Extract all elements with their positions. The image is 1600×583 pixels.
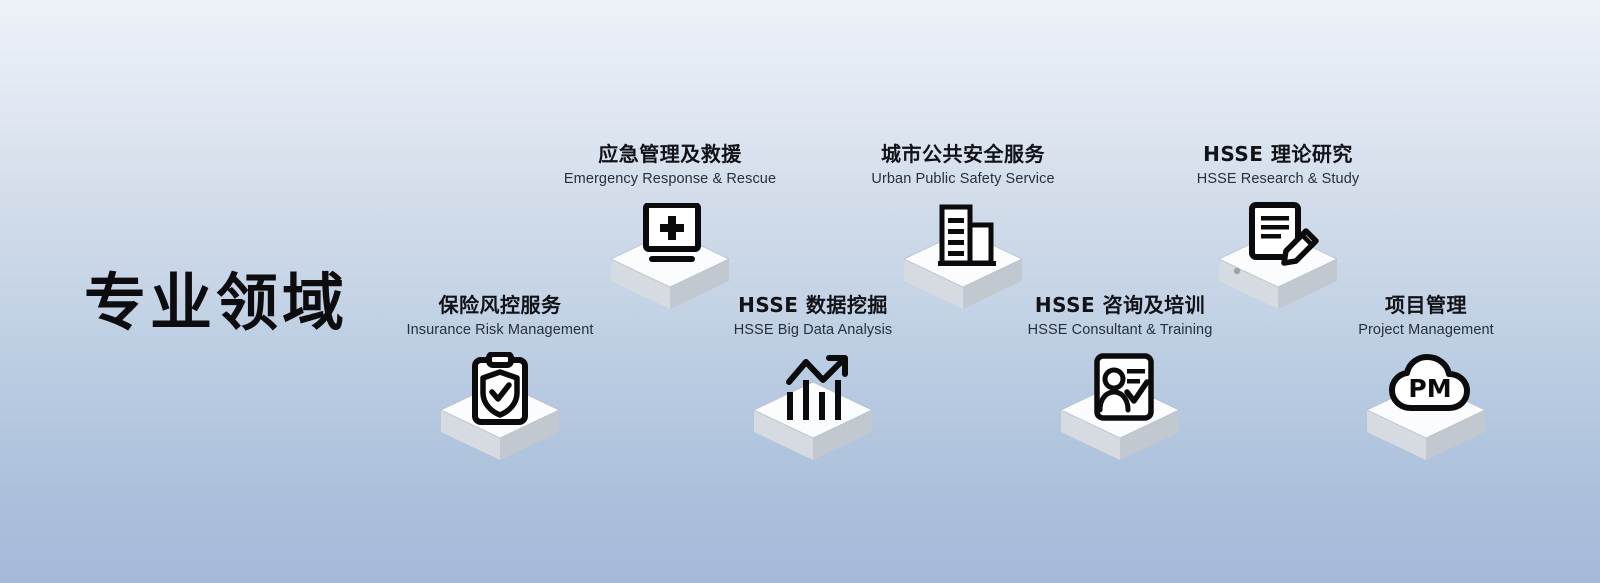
domain-title-en: Urban Public Safety Service <box>838 169 1088 189</box>
domain-title-en: Insurance Risk Management <box>375 320 625 340</box>
domain-item-titles: 应急管理及救援 Emergency Response & Rescue <box>545 142 795 189</box>
domain-title-en: HSSE Consultant & Training <box>995 320 1245 340</box>
domain-title-en: Project Management <box>1301 320 1551 340</box>
first-aid-monitor-icon <box>641 203 703 273</box>
domain-item-titles: 保险风控服务 Insurance Risk Management <box>375 293 625 340</box>
domain-figure: PM <box>1301 354 1551 464</box>
domain-item-titles: HSSE 咨询及培训 HSSE Consultant & Training <box>995 293 1245 340</box>
document-pencil-icon <box>1246 199 1322 273</box>
domain-item-hsse-big-data[interactable]: HSSE 数据挖掘 HSSE Big Data Analysis <box>688 293 938 464</box>
domain-title-en: Emergency Response & Rescue <box>545 169 795 189</box>
domain-title-cn: HSSE 咨询及培训 <box>995 293 1245 318</box>
domain-item-titles: HSSE 理论研究 HSSE Research & Study <box>1153 142 1403 189</box>
domain-figure <box>688 354 938 464</box>
domain-item-hsse-research[interactable]: HSSE 理论研究 HSSE Research & Study <box>1153 142 1403 313</box>
domain-item-titles: 项目管理 Project Management <box>1301 293 1551 340</box>
id-card-person-check-icon <box>1089 352 1159 424</box>
domain-figure <box>995 354 1245 464</box>
domain-title-cn: 应急管理及救援 <box>545 142 795 167</box>
domain-title-cn: HSSE 数据挖掘 <box>688 293 938 318</box>
domain-item-emergency-response[interactable]: 应急管理及救援 Emergency Response & Rescue <box>545 142 795 313</box>
domain-figure <box>375 354 625 464</box>
domain-item-insurance-risk[interactable]: 保险风控服务 Insurance Risk Management <box>375 293 625 464</box>
domain-item-hsse-consultant[interactable]: HSSE 咨询及培训 HSSE Consultant & Training <box>995 293 1245 464</box>
domain-title-cn: 项目管理 <box>1301 293 1551 318</box>
domain-item-project-management[interactable]: 项目管理 Project Management PM <box>1301 293 1551 464</box>
domain-title-cn: 城市公共安全服务 <box>838 142 1088 167</box>
domain-title-en: HSSE Research & Study <box>1153 169 1403 189</box>
cloud-pm-icon: PM <box>1388 354 1472 416</box>
domain-title-en: HSSE Big Data Analysis <box>688 320 938 340</box>
domain-item-titles: HSSE 数据挖掘 HSSE Big Data Analysis <box>688 293 938 340</box>
domain-title-cn: 保险风控服务 <box>375 293 625 318</box>
clipboard-shield-check-icon <box>470 352 530 428</box>
city-building-icon <box>936 203 998 269</box>
cloud-pm-label: PM <box>1408 374 1451 403</box>
domain-item-titles: 城市公共安全服务 Urban Public Safety Service <box>838 142 1088 189</box>
domain-title-cn: HSSE 理论研究 <box>1153 142 1403 167</box>
bar-chart-trend-icon <box>777 352 853 422</box>
professional-domains-banner: 专业领域 应急管理及救援 Emergency Response & Rescue <box>0 0 1600 583</box>
domain-item-urban-public-safety[interactable]: 城市公共安全服务 Urban Public Safety Service <box>838 142 1088 313</box>
page-title: 专业领域 <box>84 270 348 335</box>
